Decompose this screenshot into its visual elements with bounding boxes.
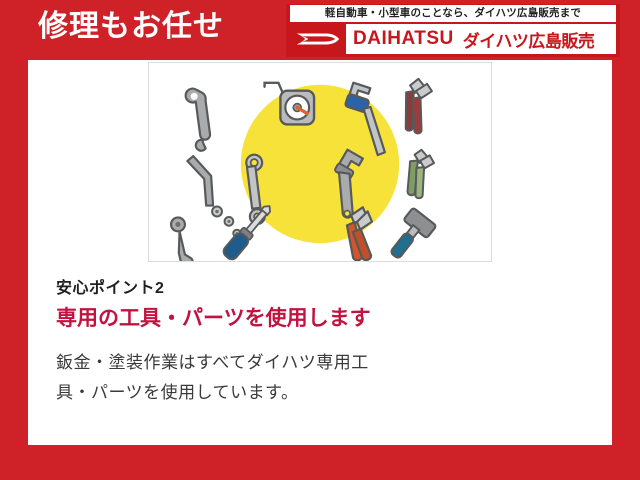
diagonal-cutters-icon (394, 148, 443, 201)
daihatsu-wordmark: DAIHATSU (353, 28, 454, 50)
socket-ratchet-icon (156, 215, 209, 261)
hex-allen-key-icon (187, 156, 213, 206)
page-title: 修理もお任せ (38, 9, 224, 45)
content-card: 安心ポイント2 専用の工具・パーツを使用します 鈑金・塗装作業はすべてダイハツ専… (28, 60, 612, 445)
point-headline: 専用の工具・パーツを使用します (56, 306, 406, 332)
linesman-pliers-icon (390, 77, 443, 137)
socket-set-icon (212, 207, 240, 237)
dealer-name: ダイハツ広島販売 (463, 27, 595, 52)
daihatsu-d-emblem-icon (290, 24, 346, 54)
combination-wrench-icon (165, 86, 228, 153)
mallet-hammer-icon (383, 208, 437, 261)
tools-illustration (148, 62, 492, 262)
slide-root: 修理もお任せ 軽自動車・小型車のことなら、ダイハツ広島販売まで DAIHATSU… (0, 0, 640, 480)
header-band: 修理もお任せ 軽自動車・小型車のことなら、ダイハツ広島販売まで DAIHATSU… (0, 0, 640, 60)
brand-tagline: 軽自動車・小型車のことなら、ダイハツ広島販売まで (290, 5, 616, 22)
text-block: 安心ポイント2 専用の工具・パーツを使用します 鈑金・塗装作業はすべてダイハツ専… (56, 278, 586, 408)
point-body-text: 鈑金・塗装作業はすべてダイハツ専用工具・パーツを使用しています。 (56, 348, 401, 408)
brand-logo-row: DAIHATSU ダイハツ広島販売 (290, 24, 616, 54)
point-label: 安心ポイント2 (56, 278, 586, 300)
screwdriver-icon (221, 201, 275, 261)
brand-logo-block: 軽自動車・小型車のことなら、ダイハツ広島販売まで DAIHATSU ダイハツ広島… (286, 4, 620, 57)
